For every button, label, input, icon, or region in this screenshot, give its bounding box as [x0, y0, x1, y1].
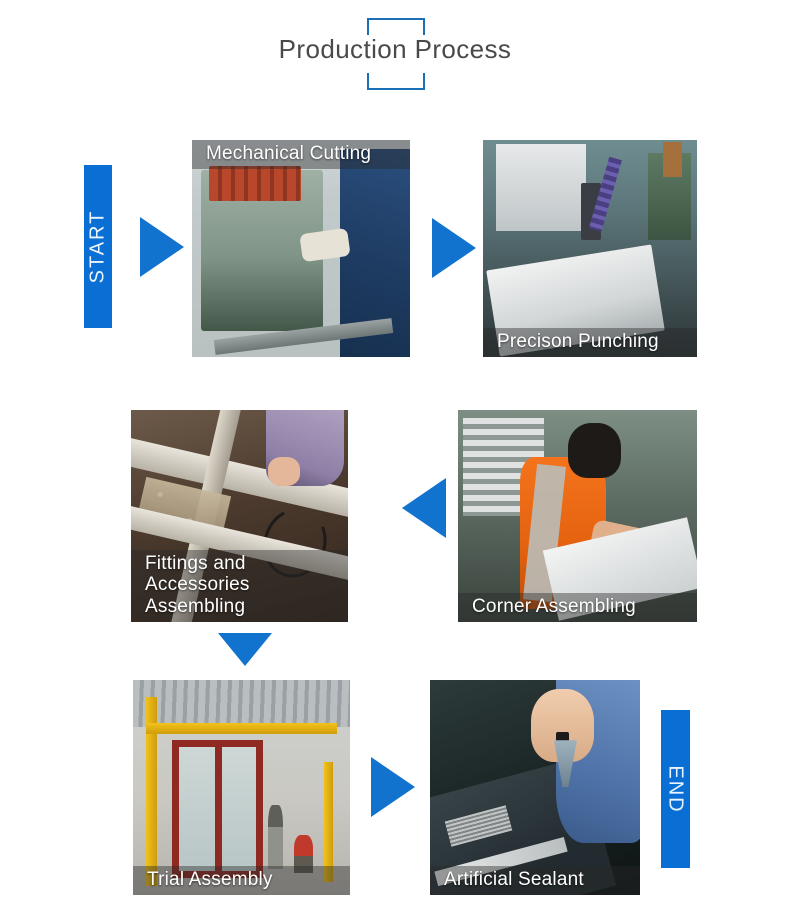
step-3-caption-line-1: Fittings and Accessories [145, 553, 338, 596]
step-3-caption-line-2: Assembling [145, 596, 338, 617]
arrow-start-to-step1 [140, 217, 184, 277]
step-3-caption: Fittings and Accessories Assembling [131, 550, 348, 622]
trial-assembly-photo [133, 680, 350, 895]
photo-detail [146, 697, 157, 886]
title-block: Production Process [0, 0, 790, 110]
photo-detail [663, 142, 682, 177]
page-title: Production Process [0, 34, 790, 65]
step-1-caption: Mechanical Cutting [192, 140, 410, 169]
end-label: END [664, 765, 687, 813]
arrow-step1-to-step2 [432, 218, 476, 278]
photo-detail [268, 805, 283, 870]
arrow-step5-to-step6 [371, 757, 415, 817]
end-bar: END [661, 710, 690, 868]
photo-detail [268, 457, 301, 487]
arrow-step3-to-step5 [218, 633, 272, 666]
photo-detail [324, 762, 333, 882]
step-5-caption: Trial Assembly [133, 866, 350, 895]
step-2-caption: Precison Punching [483, 328, 697, 357]
corner-assembly-photo [458, 410, 697, 622]
step-2-photo: Precison Punching [483, 140, 697, 357]
step-6-photo: Artificial Sealant [430, 680, 640, 895]
saw-machine-photo [192, 140, 410, 357]
arrow-step4-to-step3 [402, 478, 446, 538]
photo-detail [590, 519, 647, 557]
production-process-diagram: Production Process START Mechanical Cutt… [0, 0, 790, 921]
step-4-caption: Corner Assembling [458, 593, 697, 622]
cnc-punching-photo [483, 140, 697, 357]
step-1-photo: Mechanical Cutting [192, 140, 410, 357]
start-bar: START [84, 165, 112, 328]
photo-detail [568, 423, 621, 478]
step-5-photo: Trial Assembly [133, 680, 350, 895]
sealant-application-photo [430, 680, 640, 895]
start-label: START [87, 210, 110, 284]
step-6-caption: Artificial Sealant [430, 866, 640, 895]
photo-detail [445, 806, 513, 847]
photo-detail [215, 740, 222, 878]
step-3-photo: Fittings and Accessories Assembling [131, 410, 348, 622]
step-4-photo: Corner Assembling [458, 410, 697, 622]
